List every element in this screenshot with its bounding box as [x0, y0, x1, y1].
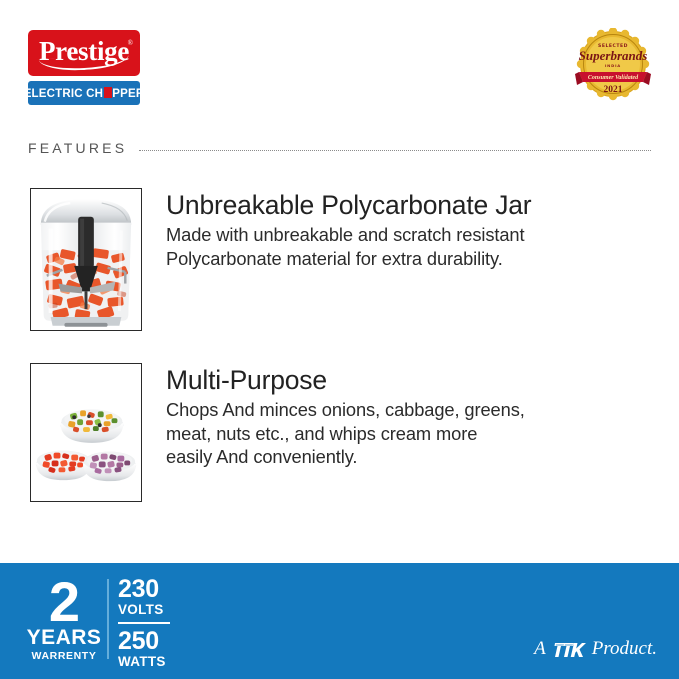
svg-text:2021: 2021	[604, 85, 623, 95]
wattage-unit: WATTS	[118, 655, 170, 669]
feature-2-description-line-2: meat, nuts etc., and whips cream more	[166, 422, 525, 445]
feature-2-description: Chops And minces onions, cabbage, greens…	[166, 398, 525, 468]
ttk-suffix-label: Product.	[592, 638, 657, 660]
feature-2-image-vegetable-bowls	[30, 363, 142, 502]
prestige-brand-logo: Prestige ® ELECTRIC CHPPER	[28, 30, 140, 105]
electric-chopper-label-part2: PPER	[112, 88, 144, 100]
ttk-prefix-label: A	[534, 638, 546, 660]
feature-2-text: Multi-Purpose Chops And minces onions, c…	[166, 363, 525, 502]
ttk-product-mark: A Product.	[534, 637, 657, 661]
electric-chopper-label: ELECTRIC CHPPER	[24, 87, 145, 100]
banner-vertical-divider	[107, 579, 109, 659]
features-heading-label: FEATURES	[28, 140, 127, 156]
feature-1-image-chopper-jar	[30, 188, 142, 331]
electric-chopper-label-part1: ELECTRIC CH	[24, 88, 104, 100]
warranty-word-label: WARRENTY	[26, 651, 102, 662]
specs-block: 230 VOLTS 250 WATTS	[118, 577, 170, 668]
svg-text:Consumer Validated: Consumer Validated	[588, 75, 639, 81]
feature-1-description-line-2: Polycarbonate material for extra durabil…	[166, 247, 531, 270]
warranty-years-label: YEARS	[26, 627, 102, 648]
feature-item-2: Multi-Purpose Chops And minces onions, c…	[30, 363, 525, 502]
warranty-number: 2	[26, 577, 102, 626]
electric-chopper-plate: ELECTRIC CHPPER	[28, 81, 140, 105]
warranty-block: 2 YEARS WARRENTY	[26, 577, 102, 662]
svg-text:INDIA: INDIA	[605, 63, 621, 68]
feature-1-title: Unbreakable Polycarbonate Jar	[166, 190, 531, 221]
wattage-value: 250	[118, 629, 170, 654]
prestige-wordmark: Prestige	[39, 38, 129, 65]
features-heading-row: FEATURES	[28, 140, 651, 156]
dotted-divider	[139, 150, 651, 151]
feature-1-text: Unbreakable Polycarbonate Jar Made with …	[166, 188, 531, 331]
voltage-unit: VOLTS	[118, 603, 170, 617]
feature-2-description-line-3: easily And conveniently.	[166, 445, 525, 468]
svg-text:Superbrands: Superbrands	[579, 48, 648, 63]
specs-horizontal-rule	[118, 622, 170, 624]
product-infographic: Prestige ® ELECTRIC CHPPER	[0, 0, 679, 679]
red-square-o-icon	[104, 87, 112, 98]
feature-1-description-line-1: Made with unbreakable and scratch resist…	[166, 223, 531, 246]
feature-1-description: Made with unbreakable and scratch resist…	[166, 223, 531, 270]
voltage-value: 230	[118, 577, 170, 602]
feature-2-description-line-1: Chops And minces onions, cabbage, greens…	[166, 398, 525, 421]
registered-trademark-icon: ®	[128, 39, 133, 47]
ttk-logo-icon	[551, 637, 587, 661]
superbrands-badge: SELECTED Superbrands INDIA Consumer Vali…	[575, 28, 651, 108]
specs-banner: 2 YEARS WARRENTY 230 VOLTS 250 WATTS A	[0, 563, 679, 679]
feature-2-title: Multi-Purpose	[166, 365, 525, 396]
prestige-logo-plate: Prestige ®	[28, 30, 140, 76]
feature-item-1: Unbreakable Polycarbonate Jar Made with …	[30, 188, 531, 331]
